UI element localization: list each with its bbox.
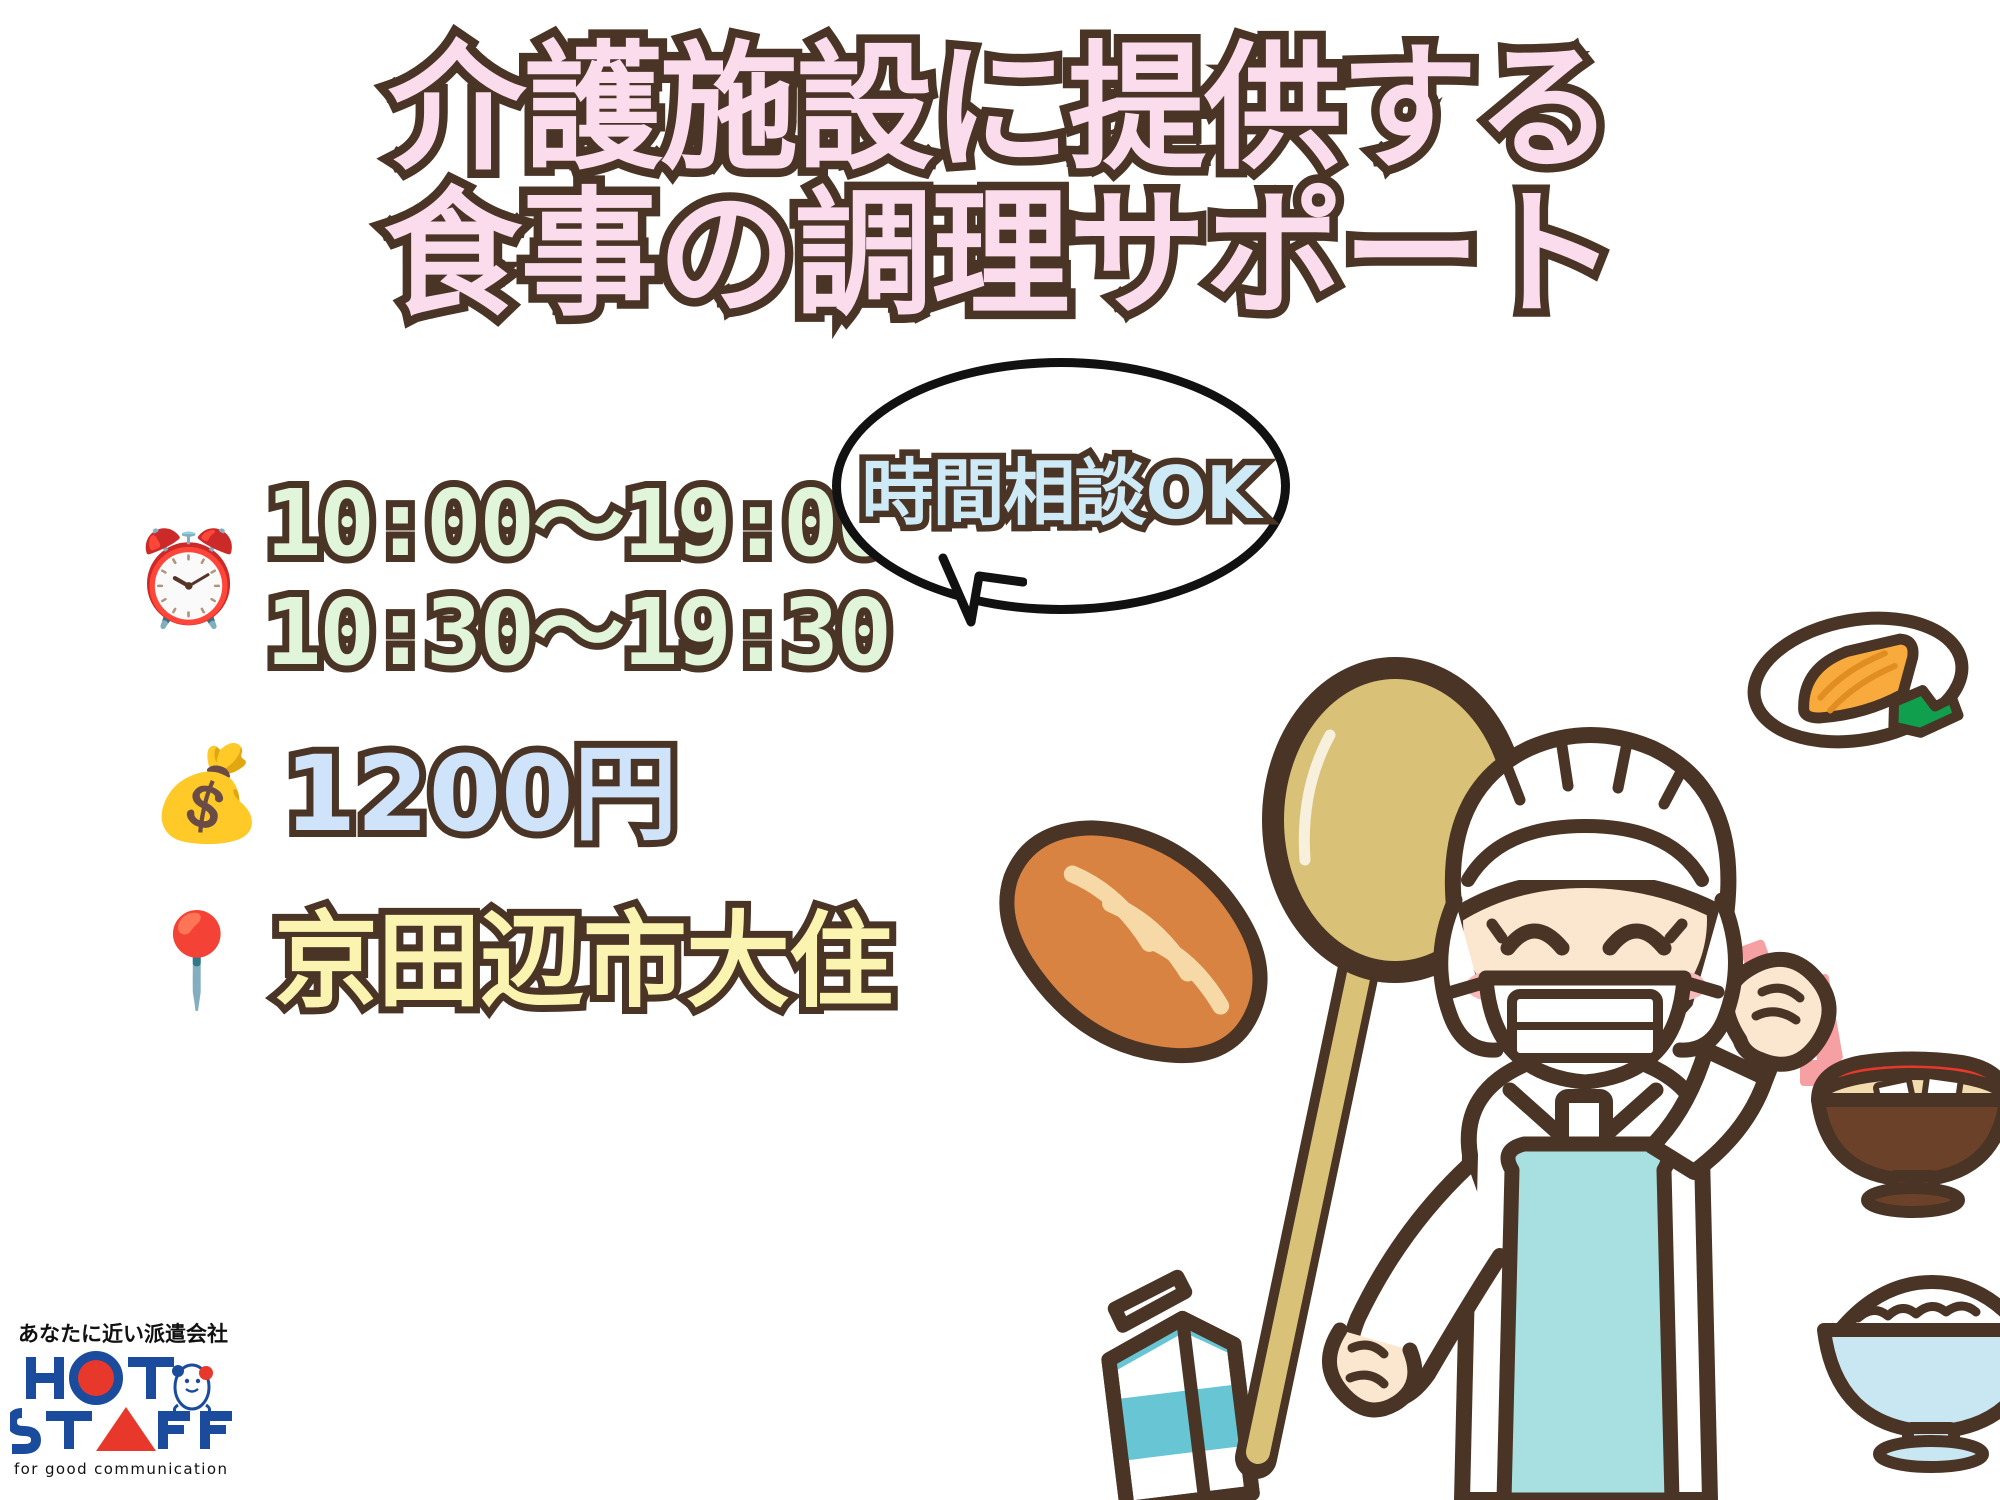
logo-tagline-top: あなたに近い派遣会社 [10, 1318, 270, 1348]
hot-staff-logo-mark [10, 1351, 240, 1455]
working-hours-line-2: 10:30〜19:30 [266, 579, 990, 688]
milk-carton-icon [1100, 1271, 1252, 1500]
map-pin-icon: 📍 [138, 915, 256, 1007]
rice-bowl-icon [1824, 1282, 2000, 1467]
title-line-2: 食事の調理サポート [0, 182, 2000, 328]
hourly-wage-value: 1200円 [284, 733, 990, 856]
grilled-fish-plate-icon [1744, 603, 1972, 758]
info-row-work-location: 📍 京田辺市大住 [130, 900, 990, 1023]
speech-bubble: 時間相談OK [832, 358, 1290, 614]
emphasis-lines-icon [1739, 939, 1872, 1086]
miso-soup-bowl-icon [1818, 1059, 2000, 1213]
info-row-hourly-wage: 💰 1200円 [130, 733, 990, 856]
logo-tagline-bottom: for good communication [10, 1460, 270, 1478]
alarm-clock-icon: ⏰ [130, 533, 248, 625]
company-logo: あなたに近い派遣会社 [10, 1318, 270, 1478]
info-block: ⏰ 10:00〜19:00 10:30〜19:30 💰 1200円 📍 京田辺市… [130, 470, 990, 1045]
money-bag-icon: 💰 [148, 748, 266, 840]
title-line-1: 介護施設に提供する [0, 36, 2000, 182]
giant-ladle-icon [1256, 668, 1517, 1458]
speech-bubble-tail-icon [935, 552, 1027, 634]
bread-loaf-icon [991, 793, 1277, 1091]
speech-bubble-text: 時間相談OK [861, 434, 1260, 539]
panda-mascot-icon [172, 1365, 213, 1413]
poster-title: 介護施設に提供する 食事の調理サポート [0, 36, 2000, 329]
work-location-value: 京田辺市大住 [274, 900, 990, 1023]
chef-character-icon [1329, 735, 1829, 1500]
